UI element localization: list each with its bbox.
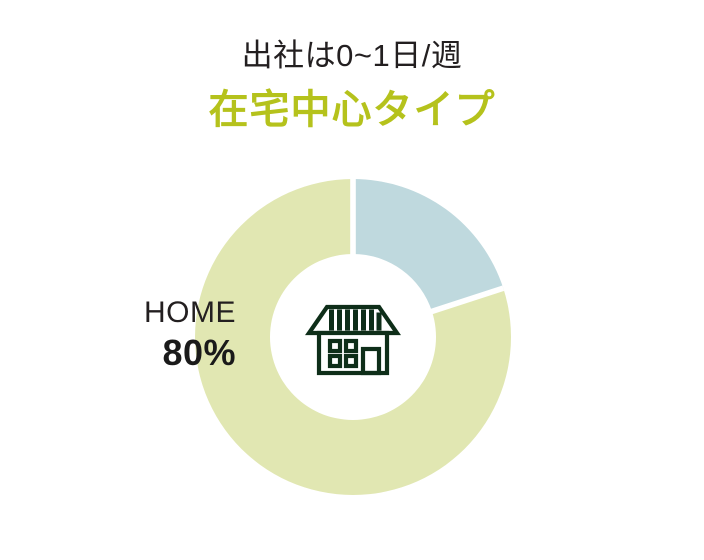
home-label-group: HOME 80% bbox=[112, 296, 236, 374]
heading-block: 出社は0~1日/週 在宅中心タイプ bbox=[0, 36, 704, 136]
home-label-name: HOME bbox=[112, 296, 236, 330]
donut-segment-office[interactable] bbox=[353, 179, 503, 311]
donut-chart-svg bbox=[195, 179, 511, 495]
home-label-value: 80% bbox=[112, 332, 236, 374]
segment-gap-top bbox=[350, 179, 356, 257]
donut-chart bbox=[195, 179, 511, 495]
slide-canvas: 出社は0~1日/週 在宅中心タイプ bbox=[0, 0, 704, 560]
page-title: 在宅中心タイプ bbox=[0, 84, 704, 136]
subtitle: 出社は0~1日/週 bbox=[0, 36, 704, 76]
